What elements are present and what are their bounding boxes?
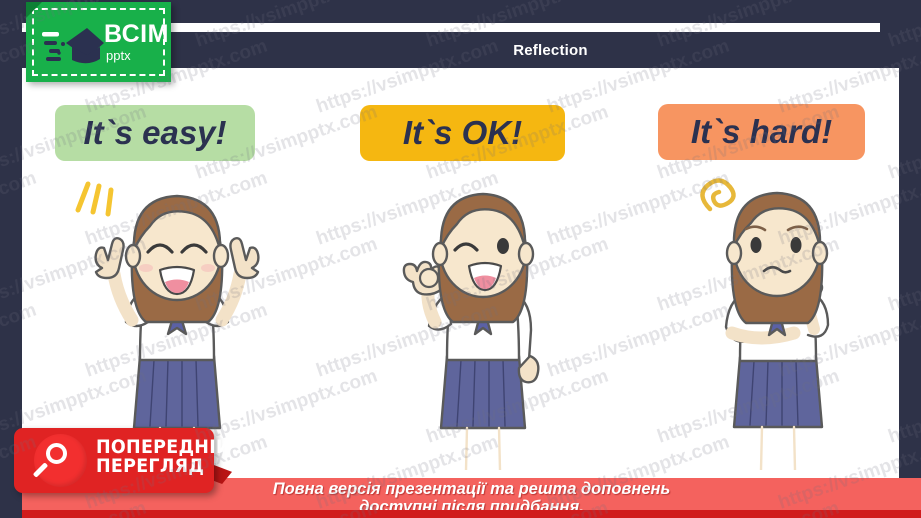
chip-its-easy[interactable]: It`s easy!	[55, 105, 255, 161]
banner-underline	[22, 510, 921, 518]
illustration-schoolgirl-happy	[62, 170, 292, 470]
slide-header-bar: Reflection	[180, 32, 921, 68]
chip-label-ok: It`s OK!	[403, 114, 522, 152]
chip-its-ok[interactable]: It`s OK!	[360, 105, 565, 161]
logo-corner-fold	[26, 2, 42, 18]
magnifier-handle	[33, 462, 49, 478]
illustration-schoolgirl-ok	[385, 170, 580, 470]
logo-wordmark: ВСІМ pptx	[104, 22, 169, 62]
magnifier-icon	[34, 434, 87, 487]
illustration-schoolgirl-worried	[676, 165, 881, 470]
logo-suffix: pptx	[106, 49, 169, 62]
slide-canvas: Reflection ВСІМ pptx It`s easy! It`s OK!…	[0, 0, 921, 518]
magnifier-lens	[46, 443, 67, 464]
logo-brand: ВСІМ	[104, 22, 169, 47]
banner-line-1: Повна версія презентації та решта доповн…	[273, 480, 671, 498]
chip-label-easy: It`s easy!	[83, 114, 226, 152]
page-title: Reflection	[513, 42, 588, 59]
right-frame-edge	[899, 68, 921, 518]
graduation-cap-icon	[42, 24, 104, 66]
chip-label-hard: It`s hard!	[691, 113, 832, 151]
vsim-pptx-logo[interactable]: ВСІМ pptx	[26, 2, 171, 82]
preview-badge[interactable]: ПОПЕРЕДНІЙ ПЕРЕГЛЯД	[14, 428, 214, 493]
preview-badge-text: ПОПЕРЕДНІЙ ПЕРЕГЛЯД	[96, 438, 243, 477]
chip-its-hard[interactable]: It`s hard!	[658, 104, 865, 160]
preview-line-2: ПЕРЕГЛЯД	[96, 457, 231, 476]
